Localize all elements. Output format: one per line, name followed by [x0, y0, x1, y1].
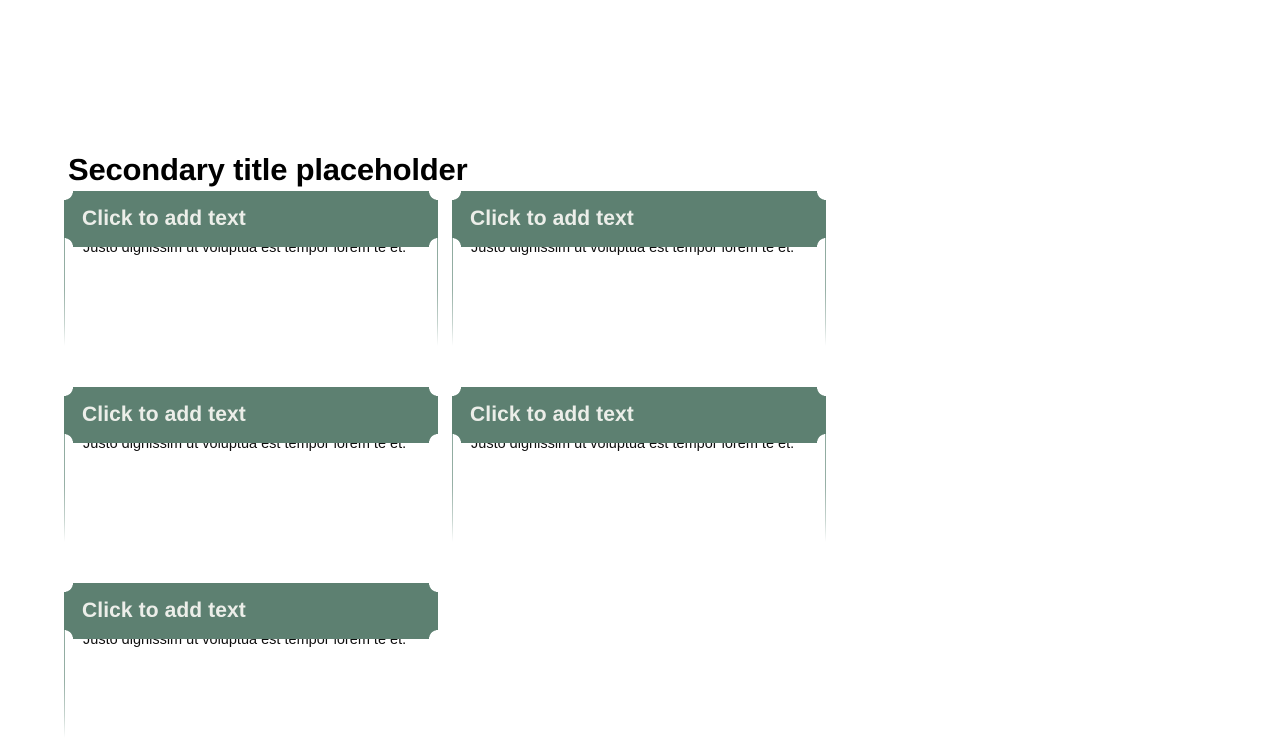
card-4[interactable]: Justo dignissim ut voluptua est tempor l… — [452, 387, 826, 542]
slide-canvas: Secondary title placeholder Justo dignis… — [0, 0, 1280, 720]
card-5-header[interactable]: Click to add text — [64, 583, 438, 639]
page-title[interactable]: Secondary title placeholder — [68, 151, 1208, 190]
card-2-header[interactable]: Click to add text — [452, 191, 826, 247]
card-3[interactable]: Justo dignissim ut voluptua est tempor l… — [64, 387, 438, 542]
card-3-header[interactable]: Click to add text — [64, 387, 438, 443]
card-1[interactable]: Justo dignissim ut voluptua est tempor l… — [64, 191, 438, 346]
card-4-header[interactable]: Click to add text — [452, 387, 826, 443]
card-1-header[interactable]: Click to add text — [64, 191, 438, 247]
card-5-heading[interactable]: Click to add text — [82, 599, 246, 622]
card-grid: Justo dignissim ut voluptua est tempor l… — [64, 191, 1212, 738]
card-5[interactable]: Justo dignissim ut voluptua est tempor l… — [64, 583, 438, 738]
card-1-heading[interactable]: Click to add text — [82, 207, 246, 230]
card-2[interactable]: Justo dignissim ut voluptua est tempor l… — [452, 191, 826, 346]
card-3-heading[interactable]: Click to add text — [82, 403, 246, 426]
card-4-heading[interactable]: Click to add text — [470, 403, 634, 426]
card-2-heading[interactable]: Click to add text — [470, 207, 634, 230]
